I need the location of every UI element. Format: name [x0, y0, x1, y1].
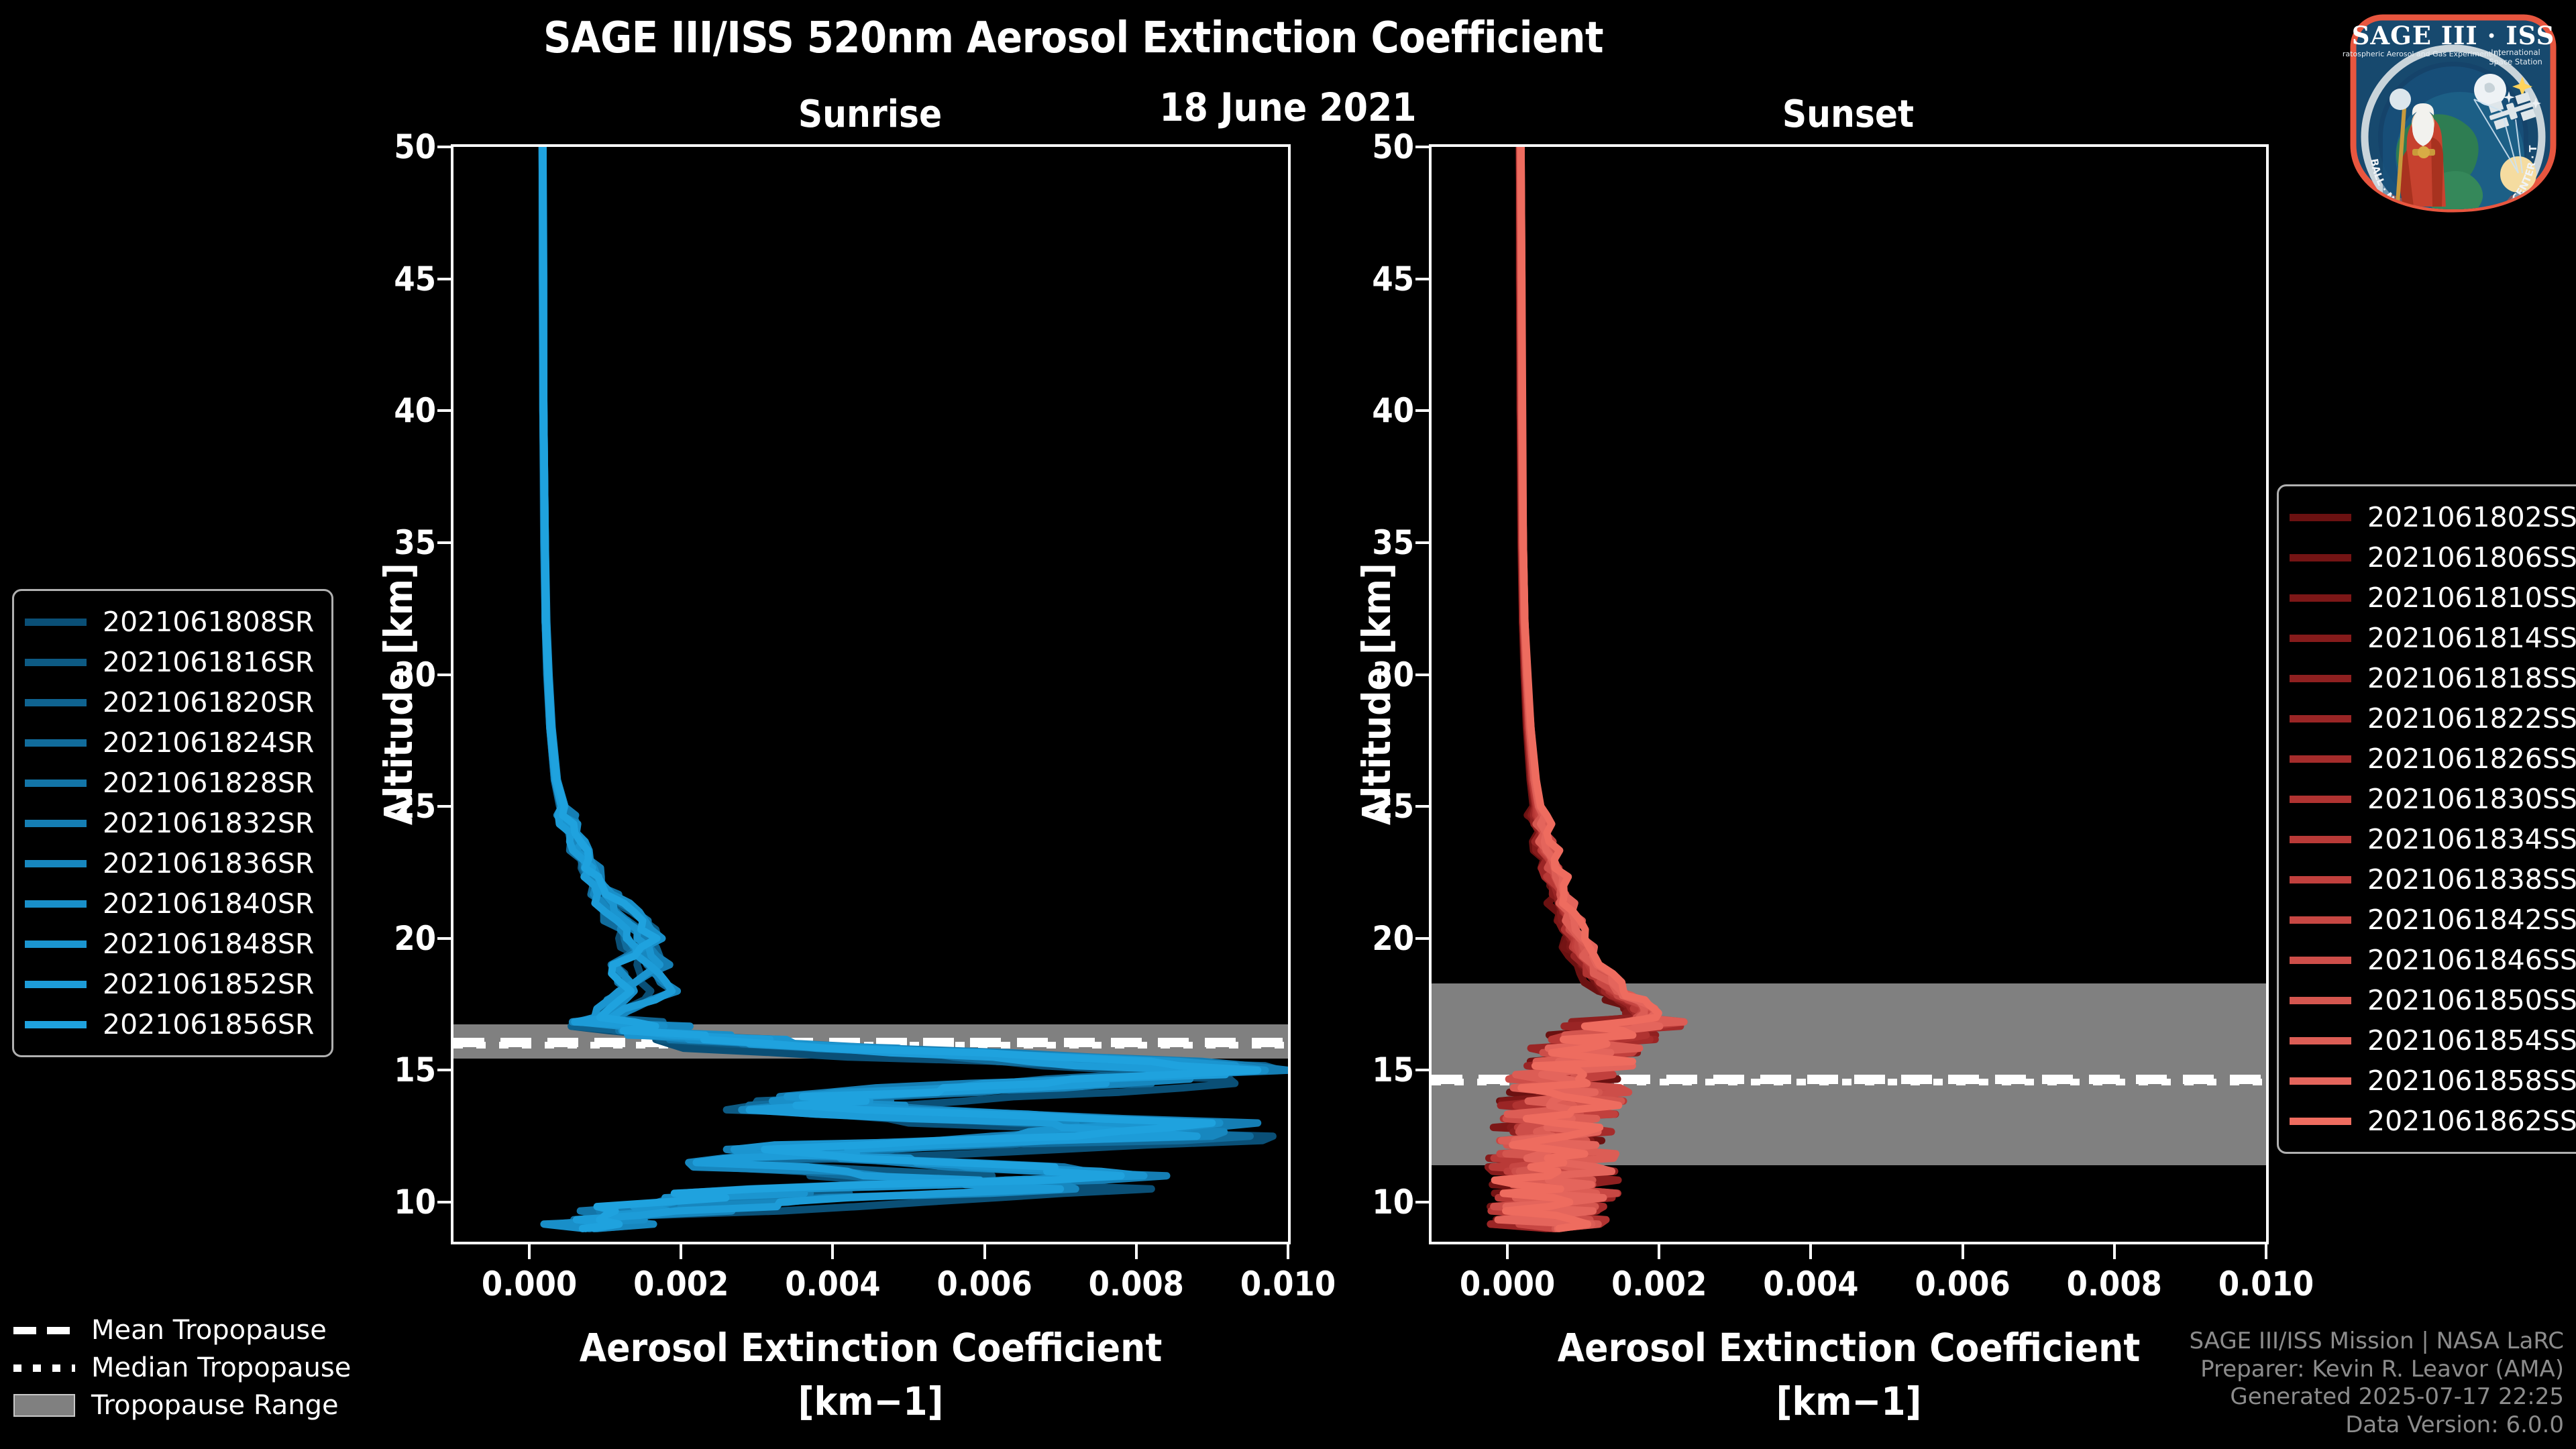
legend-tropopause[interactable]: Mean TropopauseMedian TropopauseTropopau…	[13, 1311, 351, 1424]
xtick-mark-left	[528, 1244, 531, 1259]
legend-item-label: 2021061818SS	[2367, 662, 2576, 694]
legend-tropopause-item[interactable]: Median Tropopause	[13, 1349, 351, 1387]
yaxis-title-sunrise: Altitude [km]	[376, 563, 421, 825]
xtick-label-left: 0.000	[455, 1265, 603, 1303]
ytick-mark-right	[1415, 409, 1429, 412]
xaxis-title-sunrise: Aerosol Extinction Coefficient	[451, 1325, 1291, 1371]
legend-tropopause-item[interactable]: Tropopause Range	[13, 1387, 351, 1424]
legend-color-swatch	[25, 860, 87, 867]
legend-tropopause-item[interactable]: Mean Tropopause	[13, 1311, 351, 1349]
legend-item-label: 2021061810SS	[2367, 582, 2576, 614]
ytick-label-left: 10	[350, 1183, 436, 1222]
legend-item-label: 2021061852SR	[103, 968, 314, 1000]
ytick-label-right: 45	[1328, 260, 1414, 299]
legend-item-label: 2021061814SS	[2367, 622, 2576, 654]
ytick-mark-left	[437, 674, 451, 676]
legend-sunrise-item[interactable]: 2021061808SR	[25, 602, 314, 642]
credits-line: Generated 2025-07-17 22:25	[2189, 1383, 2564, 1411]
xtick-label-right: 0.008	[2041, 1265, 2188, 1303]
ytick-label-left: 15	[350, 1051, 436, 1089]
legend-sunset-item[interactable]: 2021061858SS	[2290, 1061, 2576, 1101]
xtick-mark-right	[2113, 1244, 2116, 1259]
legend-sunset-item[interactable]: 2021061802SS	[2290, 497, 2576, 537]
legend-item-label: 2021061850SS	[2367, 984, 2576, 1016]
ytick-label-right: 40	[1328, 391, 1414, 430]
ytick-mark-right	[1415, 541, 1429, 544]
xaxis-title-units-sunset: [km−1]	[1429, 1379, 2269, 1424]
ytick-mark-left	[437, 937, 451, 940]
ytick-mark-left	[437, 1201, 451, 1203]
legend-sunrise-item[interactable]: 2021061856SR	[25, 1004, 314, 1044]
sunrise-profile-curves	[453, 147, 1288, 1242]
legend-item-label: 2021061834SS	[2367, 823, 2576, 855]
legend-color-swatch	[2290, 755, 2351, 763]
panel-title-sunrise: Sunrise	[451, 93, 1289, 136]
legend-sunset-item[interactable]: 2021061850SS	[2290, 980, 2576, 1020]
legend-sunset-item[interactable]: 2021061818SS	[2290, 658, 2576, 698]
legend-item-label: 2021061824SR	[103, 727, 314, 759]
svg-text:International: International	[2491, 48, 2540, 57]
legend-sunrise-item[interactable]: 2021061824SR	[25, 722, 314, 763]
xtick-label-right: 0.002	[1585, 1265, 1733, 1303]
legend-color-swatch	[25, 820, 87, 827]
ytick-mark-right	[1415, 1069, 1429, 1071]
ytick-mark-right	[1415, 278, 1429, 280]
legend-item-label: Mean Tropopause	[91, 1315, 327, 1346]
ytick-label-left: 45	[350, 260, 436, 299]
legend-color-swatch	[25, 780, 87, 787]
ytick-mark-left	[437, 541, 451, 544]
xtick-label-left: 0.008	[1063, 1265, 1210, 1303]
plot-sunset	[1429, 144, 2269, 1244]
credits-line: Preparer: Kevin R. Leavor (AMA)	[2189, 1356, 2564, 1384]
legend-color-swatch	[25, 619, 87, 626]
plot-sunrise	[451, 144, 1291, 1244]
legend-color-swatch	[2290, 1077, 2351, 1085]
sunset-profile-curves	[1432, 147, 2266, 1242]
legend-sunrise-item[interactable]: 2021061852SR	[25, 964, 314, 1004]
legend-sunset-item[interactable]: 2021061814SS	[2290, 618, 2576, 658]
legend-sunrise-item[interactable]: 2021061816SR	[25, 642, 314, 682]
xtick-mark-left	[831, 1244, 834, 1259]
legend-sunrise-item[interactable]: 2021061840SR	[25, 883, 314, 924]
legend-item-label: 2021061858SS	[2367, 1065, 2576, 1097]
ytick-label-left: 20	[350, 919, 436, 958]
profile-line	[542, 147, 1225, 1228]
legend-color-swatch	[2290, 1037, 2351, 1044]
legend-sunset-item[interactable]: 2021061854SS	[2290, 1020, 2576, 1061]
legend-color-swatch	[2290, 997, 2351, 1004]
legend-item-label: 2021061816SR	[103, 646, 314, 678]
legend-color-swatch	[2290, 715, 2351, 722]
legend-color-swatch	[2290, 876, 2351, 883]
legend-color-swatch	[25, 981, 87, 988]
legend-item-label: 2021061836SR	[103, 847, 314, 879]
legend-color-swatch	[2290, 514, 2351, 521]
legend-color-swatch	[25, 739, 87, 747]
legend-sunrise-item[interactable]: 2021061848SR	[25, 924, 314, 964]
legend-color-swatch	[2290, 796, 2351, 803]
legend-item-label: 2021061826SS	[2367, 743, 2576, 775]
xtick-mark-left	[983, 1244, 986, 1259]
ytick-mark-right	[1415, 805, 1429, 808]
legend-sunset-item[interactable]: 2021061846SS	[2290, 940, 2576, 980]
ytick-mark-left	[437, 278, 451, 280]
legend-item-label: 2021061842SS	[2367, 904, 2576, 936]
svg-text:Space Station: Space Station	[2489, 57, 2542, 66]
xtick-label-left: 0.004	[759, 1265, 906, 1303]
ytick-mark-right	[1415, 1201, 1429, 1203]
xtick-mark-left	[1135, 1244, 1138, 1259]
legend-dotted-swatch	[13, 1364, 75, 1372]
legend-sunset-item[interactable]: 2021061826SS	[2290, 739, 2576, 779]
legend-color-swatch	[25, 659, 87, 666]
legend-sunset-item[interactable]: 2021061830SS	[2290, 779, 2576, 819]
page-title: SAGE III/ISS 520nm Aerosol Extinction Co…	[0, 13, 2147, 63]
ytick-label-right: 15	[1328, 1051, 1414, 1089]
ytick-label-right: 35	[1328, 523, 1414, 562]
ytick-mark-left	[437, 805, 451, 808]
legend-color-swatch	[25, 941, 87, 948]
legend-color-swatch	[2290, 1118, 2351, 1125]
ytick-label-right: 50	[1328, 127, 1414, 166]
legend-color-swatch	[25, 900, 87, 908]
legend-sunset-item[interactable]: 2021061806SS	[2290, 537, 2576, 578]
svg-text:Stratospheric Aerosol and Gas: Stratospheric Aerosol and Gas Experiment…	[2343, 50, 2500, 58]
ytick-label-right: 10	[1328, 1183, 1414, 1222]
legend-item-label: 2021061830SS	[2367, 783, 2576, 815]
ytick-mark-left	[437, 146, 451, 148]
legend-item-label: 2021061808SR	[103, 606, 314, 638]
legend-item-label: 2021061806SS	[2367, 541, 2576, 574]
ytick-label-left: 35	[350, 523, 436, 562]
xtick-mark-right	[1506, 1244, 1509, 1259]
legend-color-swatch	[2290, 554, 2351, 561]
xtick-mark-right	[1809, 1244, 1812, 1259]
xtick-label-right: 0.000	[1434, 1265, 1581, 1303]
legend-item-label: Median Tropopause	[91, 1352, 351, 1383]
yaxis-title-sunset: Altitude [km]	[1354, 563, 1399, 825]
legend-item-label: 2021061846SS	[2367, 944, 2576, 976]
plot-sunset-inner	[1432, 147, 2266, 1242]
xaxis-title-sunset: Aerosol Extinction Coefficient	[1429, 1325, 2269, 1371]
legend-item-label: Tropopause Range	[91, 1390, 339, 1421]
legend-color-swatch	[2290, 675, 2351, 682]
legend-color-swatch	[2290, 635, 2351, 642]
ytick-label-left: 40	[350, 391, 436, 430]
legend-item-label: 2021061840SR	[103, 888, 314, 920]
xtick-mark-right	[1658, 1244, 1660, 1259]
credits-block: SAGE III/ISS Mission | NASA LaRCPreparer…	[2189, 1328, 2564, 1440]
legend-sunrise-item[interactable]: 2021061820SR	[25, 682, 314, 722]
xtick-label-right: 0.006	[1889, 1265, 2037, 1303]
xtick-mark-right	[2265, 1244, 2267, 1259]
legend-item-label: 2021061838SS	[2367, 863, 2576, 896]
legend-sunrise-item[interactable]: 2021061836SR	[25, 843, 314, 883]
svg-text:SAGE III · ISS: SAGE III · ISS	[2352, 21, 2555, 50]
legend-color-swatch	[25, 1021, 87, 1028]
xtick-mark-right	[1962, 1244, 1964, 1259]
ytick-mark-right	[1415, 146, 1429, 148]
xtick-mark-left	[680, 1244, 682, 1259]
ytick-label-left: 50	[350, 127, 436, 166]
xtick-label-left: 0.002	[607, 1265, 755, 1303]
xtick-label-left: 0.010	[1214, 1265, 1362, 1303]
legend-sunrise-item[interactable]: 2021061832SR	[25, 803, 314, 843]
legend-item-label: 2021061856SR	[103, 1008, 314, 1040]
credits-line: SAGE III/ISS Mission | NASA LaRC	[2189, 1328, 2564, 1356]
legend-sunset-item[interactable]: 2021061862SS	[2290, 1101, 2576, 1141]
legend-range-swatch	[13, 1394, 75, 1417]
legend-color-swatch	[25, 699, 87, 706]
legend-sunset-item[interactable]: 2021061834SS	[2290, 819, 2576, 859]
legend-sunset-item[interactable]: 2021061842SS	[2290, 900, 2576, 940]
xtick-mark-left	[1287, 1244, 1289, 1259]
legend-color-swatch	[2290, 836, 2351, 843]
credits-line: Data Version: 6.0.0	[2189, 1411, 2564, 1440]
sage-iii-iss-logo: BALL · NASA LANGLEY RESEARCH CENTER · TA…	[2343, 5, 2564, 220]
legend-item-label: 2021061832SR	[103, 807, 314, 839]
plot-sunrise-inner	[453, 147, 1288, 1242]
ytick-label-right: 20	[1328, 919, 1414, 958]
ytick-mark-right	[1415, 674, 1429, 676]
legend-item-label: 2021061862SS	[2367, 1105, 2576, 1137]
legend-item-label: 2021061802SS	[2367, 501, 2576, 533]
legend-sunset-item[interactable]: 2021061822SS	[2290, 698, 2576, 739]
legend-item-label: 2021061854SS	[2367, 1024, 2576, 1057]
legend-sunrise[interactable]: 2021061808SR2021061816SR2021061820SR2021…	[12, 589, 333, 1057]
legend-color-swatch	[2290, 916, 2351, 924]
legend-sunset[interactable]: 2021061802SS2021061806SS2021061810SS2021…	[2277, 484, 2576, 1154]
legend-item-label: 2021061848SR	[103, 928, 314, 960]
ytick-mark-right	[1415, 937, 1429, 940]
legend-color-swatch	[2290, 957, 2351, 964]
xaxis-title-units-sunrise: [km−1]	[451, 1379, 1291, 1424]
xtick-label-right: 0.010	[2192, 1265, 2340, 1303]
legend-sunrise-item[interactable]: 2021061828SR	[25, 763, 314, 803]
ytick-mark-left	[437, 409, 451, 412]
xtick-label-left: 0.006	[911, 1265, 1059, 1303]
xtick-label-right: 0.004	[1737, 1265, 1884, 1303]
legend-dashed-swatch	[13, 1327, 75, 1334]
legend-color-swatch	[2290, 594, 2351, 602]
legend-item-label: 2021061820SR	[103, 686, 314, 718]
legend-item-label: 2021061828SR	[103, 767, 314, 799]
panel-title-sunset: Sunset	[1429, 93, 2267, 136]
ytick-mark-left	[437, 1069, 451, 1071]
legend-sunset-item[interactable]: 2021061838SS	[2290, 859, 2576, 900]
legend-sunset-item[interactable]: 2021061810SS	[2290, 578, 2576, 618]
legend-item-label: 2021061822SS	[2367, 702, 2576, 735]
